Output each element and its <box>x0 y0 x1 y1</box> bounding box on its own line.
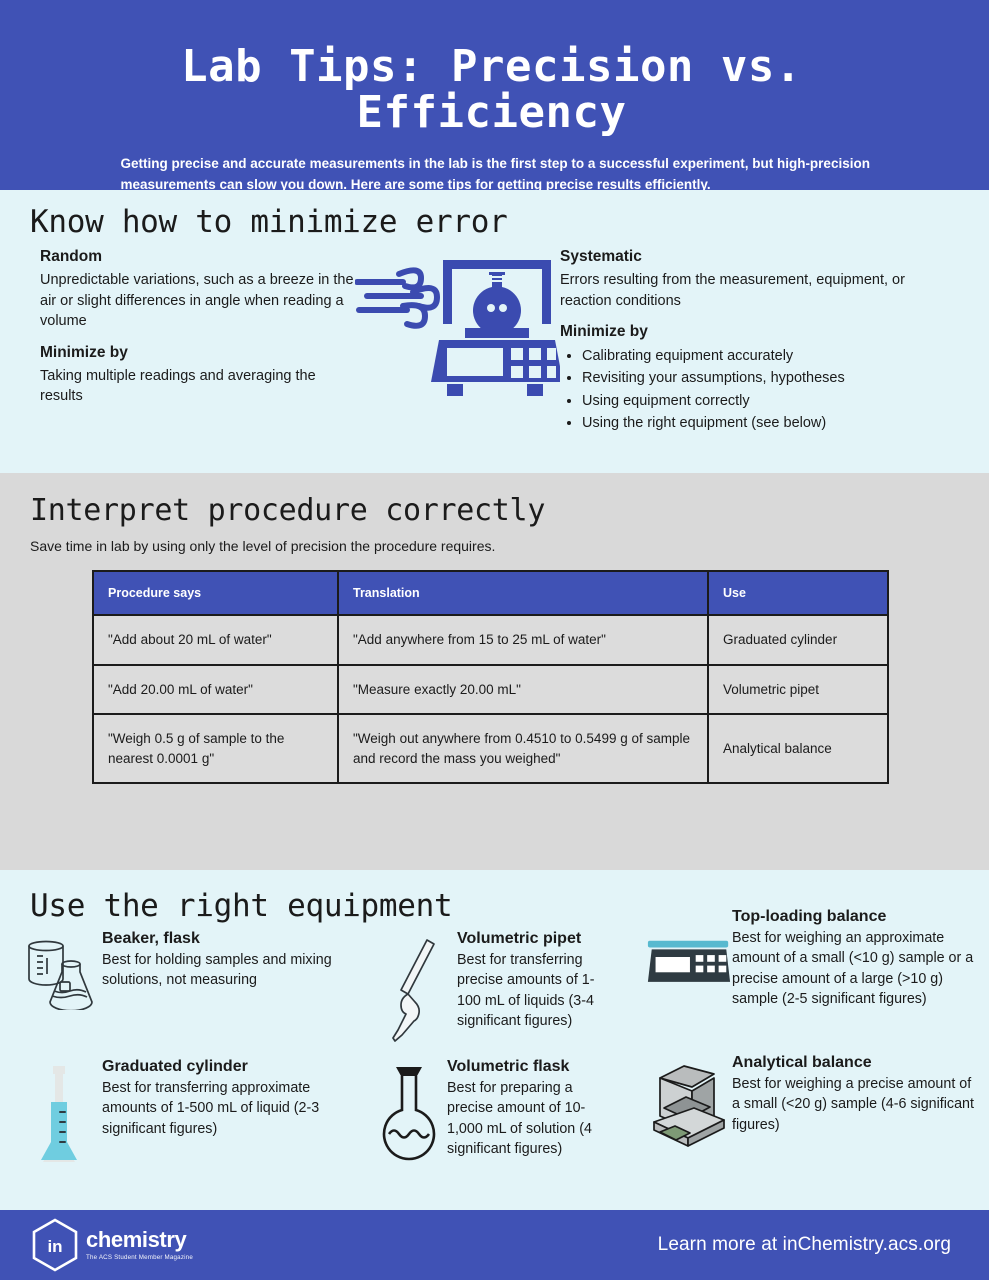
table-cell: "Add about 20 mL of water" <box>93 615 338 665</box>
table-cell: "Add 20.00 mL of water" <box>93 665 338 715</box>
random-minimize-text: Taking multiple readings and averaging t… <box>40 366 355 407</box>
wind-icon <box>357 270 437 325</box>
analytical-balance-icon <box>646 1054 732 1156</box>
minimize-error-section: Know how to minimize error Random Unpred… <box>0 190 989 473</box>
table-cell: "Weigh 0.5 g of sample to the nearest 0.… <box>93 714 338 783</box>
interpret-procedure-heading: Interpret procedure correctly <box>0 493 989 528</box>
balance-with-flask-icon <box>355 248 560 408</box>
hexagon-logo-icon: in <box>30 1218 80 1272</box>
table-cell: "Weigh out anywhere from 0.4510 to 0.549… <box>338 714 708 783</box>
list-item: Using equipment correctly <box>582 390 959 412</box>
table-cell: Analytical balance <box>708 714 888 783</box>
table-cell: Volumetric pipet <box>708 665 888 715</box>
error-illustration <box>355 248 560 434</box>
top-loading-balance-icon <box>646 908 732 1000</box>
page-title: Lab Tips: Precision vs. Efficiency <box>46 44 943 136</box>
column-header-translation: Translation <box>338 571 708 615</box>
table-row: "Add about 20 mL of water" "Add anywhere… <box>93 615 888 665</box>
systematic-minimize-label: Minimize by <box>560 323 959 341</box>
equipment-card-graduated-cylinder: Graduated cylinder Best for transferring… <box>0 1054 355 1180</box>
footer-bar: in chemistry The ACS Student Member Maga… <box>0 1210 989 1280</box>
random-minimize-label: Minimize by <box>40 344 355 362</box>
list-item: Calibrating equipment accurately <box>582 345 959 367</box>
equipment-card-top-loading-balance: Top-loading balance Best for weighing an… <box>630 908 989 1054</box>
column-header-procedure: Procedure says <box>93 571 338 615</box>
column-header-use: Use <box>708 571 888 615</box>
inchemistry-logo[interactable]: in chemistry The ACS Student Member Maga… <box>30 1218 193 1272</box>
equipment-title: Volumetric pipet <box>457 930 616 948</box>
table-row: "Add 20.00 mL of water" "Measure exactly… <box>93 665 888 715</box>
volumetric-flask-icon <box>371 1058 447 1168</box>
equipment-card-beaker-flask: Beaker, flask Best for holding samples a… <box>0 926 355 1054</box>
table-cell: Graduated cylinder <box>708 615 888 665</box>
graduated-cylinder-icon <box>16 1058 102 1170</box>
svg-text:in: in <box>47 1237 62 1256</box>
equipment-description: Best for weighing a precise amount of a … <box>732 1074 975 1135</box>
procedure-table: Procedure says Translation Use "Add abou… <box>92 570 889 784</box>
equipment-title: Beaker, flask <box>102 930 341 948</box>
random-description: Unpredictable variations, such as a bree… <box>40 270 355 332</box>
random-label: Random <box>40 248 355 266</box>
volumetric-pipet-icon <box>371 930 457 1044</box>
equipment-description: Best for preparing a precise amount of 1… <box>447 1078 616 1159</box>
equipment-title: Top-loading balance <box>732 908 975 926</box>
random-error-block: Random Unpredictable variations, such as… <box>0 248 355 434</box>
logo-tagline: The ACS Student Member Magazine <box>86 1254 193 1261</box>
equipment-grid: Beaker, flask Best for holding samples a… <box>0 926 989 1180</box>
header-banner: Lab Tips: Precision vs. Efficiency Getti… <box>0 0 989 190</box>
equipment-card-volumetric-flask: Volumetric flask Best for preparing a pr… <box>355 1054 630 1180</box>
systematic-description: Errors resulting from the measurement, e… <box>560 270 959 311</box>
list-item: Revisiting your assumptions, hypotheses <box>582 367 959 389</box>
equipment-description: Best for transferring approximate amount… <box>102 1078 341 1139</box>
equipment-title: Volumetric flask <box>447 1058 616 1076</box>
equipment-card-volumetric-pipet: Volumetric pipet Best for transferring p… <box>355 926 630 1054</box>
equipment-card-analytical-balance: Analytical balance Best for weighing a p… <box>630 1054 989 1180</box>
systematic-label: Systematic <box>560 248 959 266</box>
minimize-error-heading: Know how to minimize error <box>0 204 989 240</box>
systematic-error-block: Systematic Errors resulting from the mea… <box>560 248 989 434</box>
table-row: "Weigh 0.5 g of sample to the nearest 0.… <box>93 714 888 783</box>
equipment-description: Best for weighing an approximate amount … <box>732 928 975 1009</box>
table-intro-text: Save time in lab by using only the level… <box>0 538 989 554</box>
table-cell: "Measure exactly 20.00 mL" <box>338 665 708 715</box>
table-cell: "Add anywhere from 15 to 25 mL of water" <box>338 615 708 665</box>
list-item: Using the right equipment (see below) <box>582 412 959 434</box>
learn-more-link[interactable]: Learn more at inChemistry.acs.org <box>658 1234 951 1256</box>
table-header-row: Procedure says Translation Use <box>93 571 888 615</box>
logo-wordmark: chemistry <box>86 1229 193 1251</box>
equipment-section: Use the right equipment <box>0 870 989 1210</box>
equipment-description: Best for transferring precise amounts of… <box>457 950 616 1031</box>
systematic-minimize-list: Calibrating equipment accurately Revisit… <box>560 345 959 434</box>
interpret-procedure-section: Interpret procedure correctly Save time … <box>0 473 989 870</box>
beaker-flask-icon <box>16 930 102 1010</box>
infographic-page: Lab Tips: Precision vs. Efficiency Getti… <box>0 0 989 1280</box>
equipment-title: Analytical balance <box>732 1054 975 1072</box>
equipment-description: Best for holding samples and mixing solu… <box>102 950 341 991</box>
equipment-title: Graduated cylinder <box>102 1058 341 1076</box>
